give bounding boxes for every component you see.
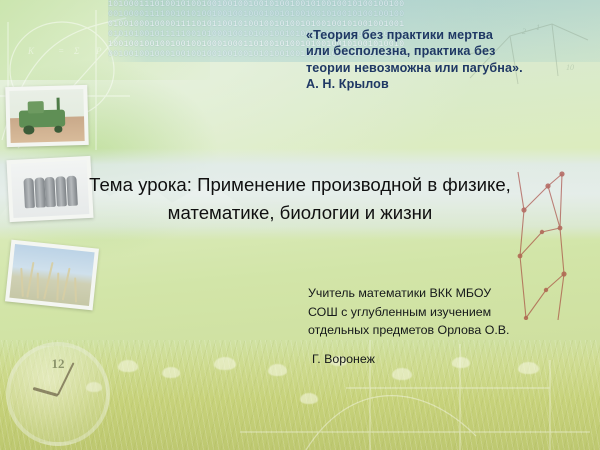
author-byline: Учитель математики ВКК МБОУ СОШ с углубл… [308, 284, 576, 368]
quote-line-1: «Теория без практики мертва [306, 28, 493, 42]
title-line-1: Тема урока: Применение производной в физ… [89, 174, 511, 195]
harvester-wheel [24, 126, 35, 135]
photo-harvester [5, 85, 89, 147]
silo-shape [24, 178, 35, 209]
wheat-ear-shape [43, 262, 53, 299]
photo-wheat-field [5, 240, 99, 311]
wheat-ear-shape [20, 268, 24, 297]
wheat-ear-shape [74, 278, 77, 303]
wheat-ear-shape [56, 272, 59, 300]
byline-line-2: СОШ с углубленным изучением [308, 305, 491, 319]
harvester-wheel [55, 126, 63, 132]
analog-clock-decor: 12 [6, 342, 110, 446]
quote-line-2: или бесполезна, практика без [306, 44, 495, 58]
svg-text:=: = [58, 46, 64, 56]
byline-city: Г. Воронеж [308, 350, 576, 369]
photo-harvester-image [9, 89, 84, 143]
svg-text:Σ: Σ [73, 46, 80, 56]
quote-line-3: теории невозможна или пагубна». [306, 61, 523, 75]
wheat-ear-shape [62, 268, 71, 301]
slide-title: Тема урока: Применение производной в физ… [40, 171, 560, 227]
wheat-ear-shape [26, 262, 34, 297]
wheat-ear-shape [37, 273, 39, 299]
harvester-cab [27, 102, 44, 114]
epigraph-quote: «Теория без практики мертва или бесполез… [306, 27, 590, 93]
svg-text:K: K [27, 46, 35, 56]
clock-hour-hand [33, 387, 59, 397]
photo-wheat-image [9, 244, 94, 306]
title-line-2: математике, биологии и жизни [40, 199, 560, 227]
byline-line-3: отдельных предметов Орлова О.В. [308, 323, 510, 337]
presentation-slide: K=ΣP 10100011101001010010010010010010100… [0, 0, 600, 450]
quote-author: А. Н. Крылов [306, 76, 590, 92]
clock-hour-12-label: 12 [52, 356, 65, 372]
byline-line-1: Учитель математики ВКК МБОУ [308, 286, 491, 300]
svg-text:P: P [95, 46, 102, 56]
